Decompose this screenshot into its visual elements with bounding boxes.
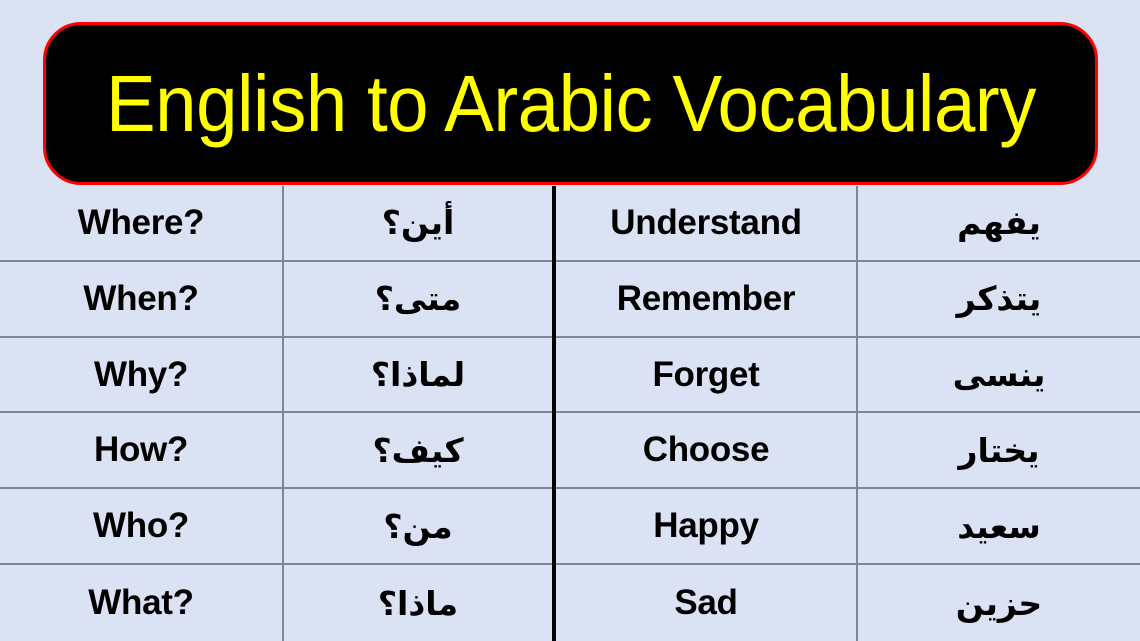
vocabulary-table: Where? أين؟ When? متى؟ Why? لماذا؟ How? … (0, 186, 1140, 641)
table-row: Remember يتذكر (556, 262, 1140, 338)
arabic-word-cell: من؟ (284, 489, 552, 563)
english-word-cell: Happy (556, 489, 858, 563)
title-banner: English to Arabic Vocabulary (43, 22, 1098, 185)
vocabulary-page: English to Arabic Vocabulary Where? أين؟… (0, 0, 1140, 641)
page-title: English to Arabic Vocabulary (106, 64, 1036, 144)
english-word-cell: Why? (0, 338, 284, 412)
arabic-word-cell: ينسى (858, 338, 1140, 412)
arabic-word-cell: يختار (858, 413, 1140, 487)
table-row: How? كيف؟ (0, 413, 552, 489)
table-row: Sad حزين (556, 565, 1140, 641)
arabic-word-cell: سعيد (858, 489, 1140, 563)
table-row: Who? من؟ (0, 489, 552, 565)
table-row: Understand يفهم (556, 186, 1140, 262)
arabic-word-cell: لماذا؟ (284, 338, 552, 412)
arabic-word-cell: متى؟ (284, 262, 552, 336)
table-row: Forget ينسى (556, 338, 1140, 414)
table-row: When? متى؟ (0, 262, 552, 338)
arabic-word-cell: كيف؟ (284, 413, 552, 487)
arabic-word-cell: أين؟ (284, 186, 552, 260)
english-word-cell: Who? (0, 489, 284, 563)
english-word-cell: Sad (556, 565, 858, 641)
arabic-word-cell: ماذا؟ (284, 565, 552, 641)
table-left-half: Where? أين؟ When? متى؟ Why? لماذا؟ How? … (0, 186, 552, 641)
english-word-cell: When? (0, 262, 284, 336)
english-word-cell: Where? (0, 186, 284, 260)
english-word-cell: How? (0, 413, 284, 487)
table-row: What? ماذا؟ (0, 565, 552, 641)
table-row: Happy سعيد (556, 489, 1140, 565)
table-right-half: Understand يفهم Remember يتذكر Forget ين… (556, 186, 1140, 641)
table-row: Choose يختار (556, 413, 1140, 489)
table-row: Where? أين؟ (0, 186, 552, 262)
english-word-cell: What? (0, 565, 284, 641)
english-word-cell: Forget (556, 338, 858, 412)
english-word-cell: Understand (556, 186, 858, 260)
arabic-word-cell: يفهم (858, 186, 1140, 260)
english-word-cell: Choose (556, 413, 858, 487)
english-word-cell: Remember (556, 262, 858, 336)
table-row: Why? لماذا؟ (0, 338, 552, 414)
arabic-word-cell: حزين (858, 565, 1140, 641)
arabic-word-cell: يتذكر (858, 262, 1140, 336)
